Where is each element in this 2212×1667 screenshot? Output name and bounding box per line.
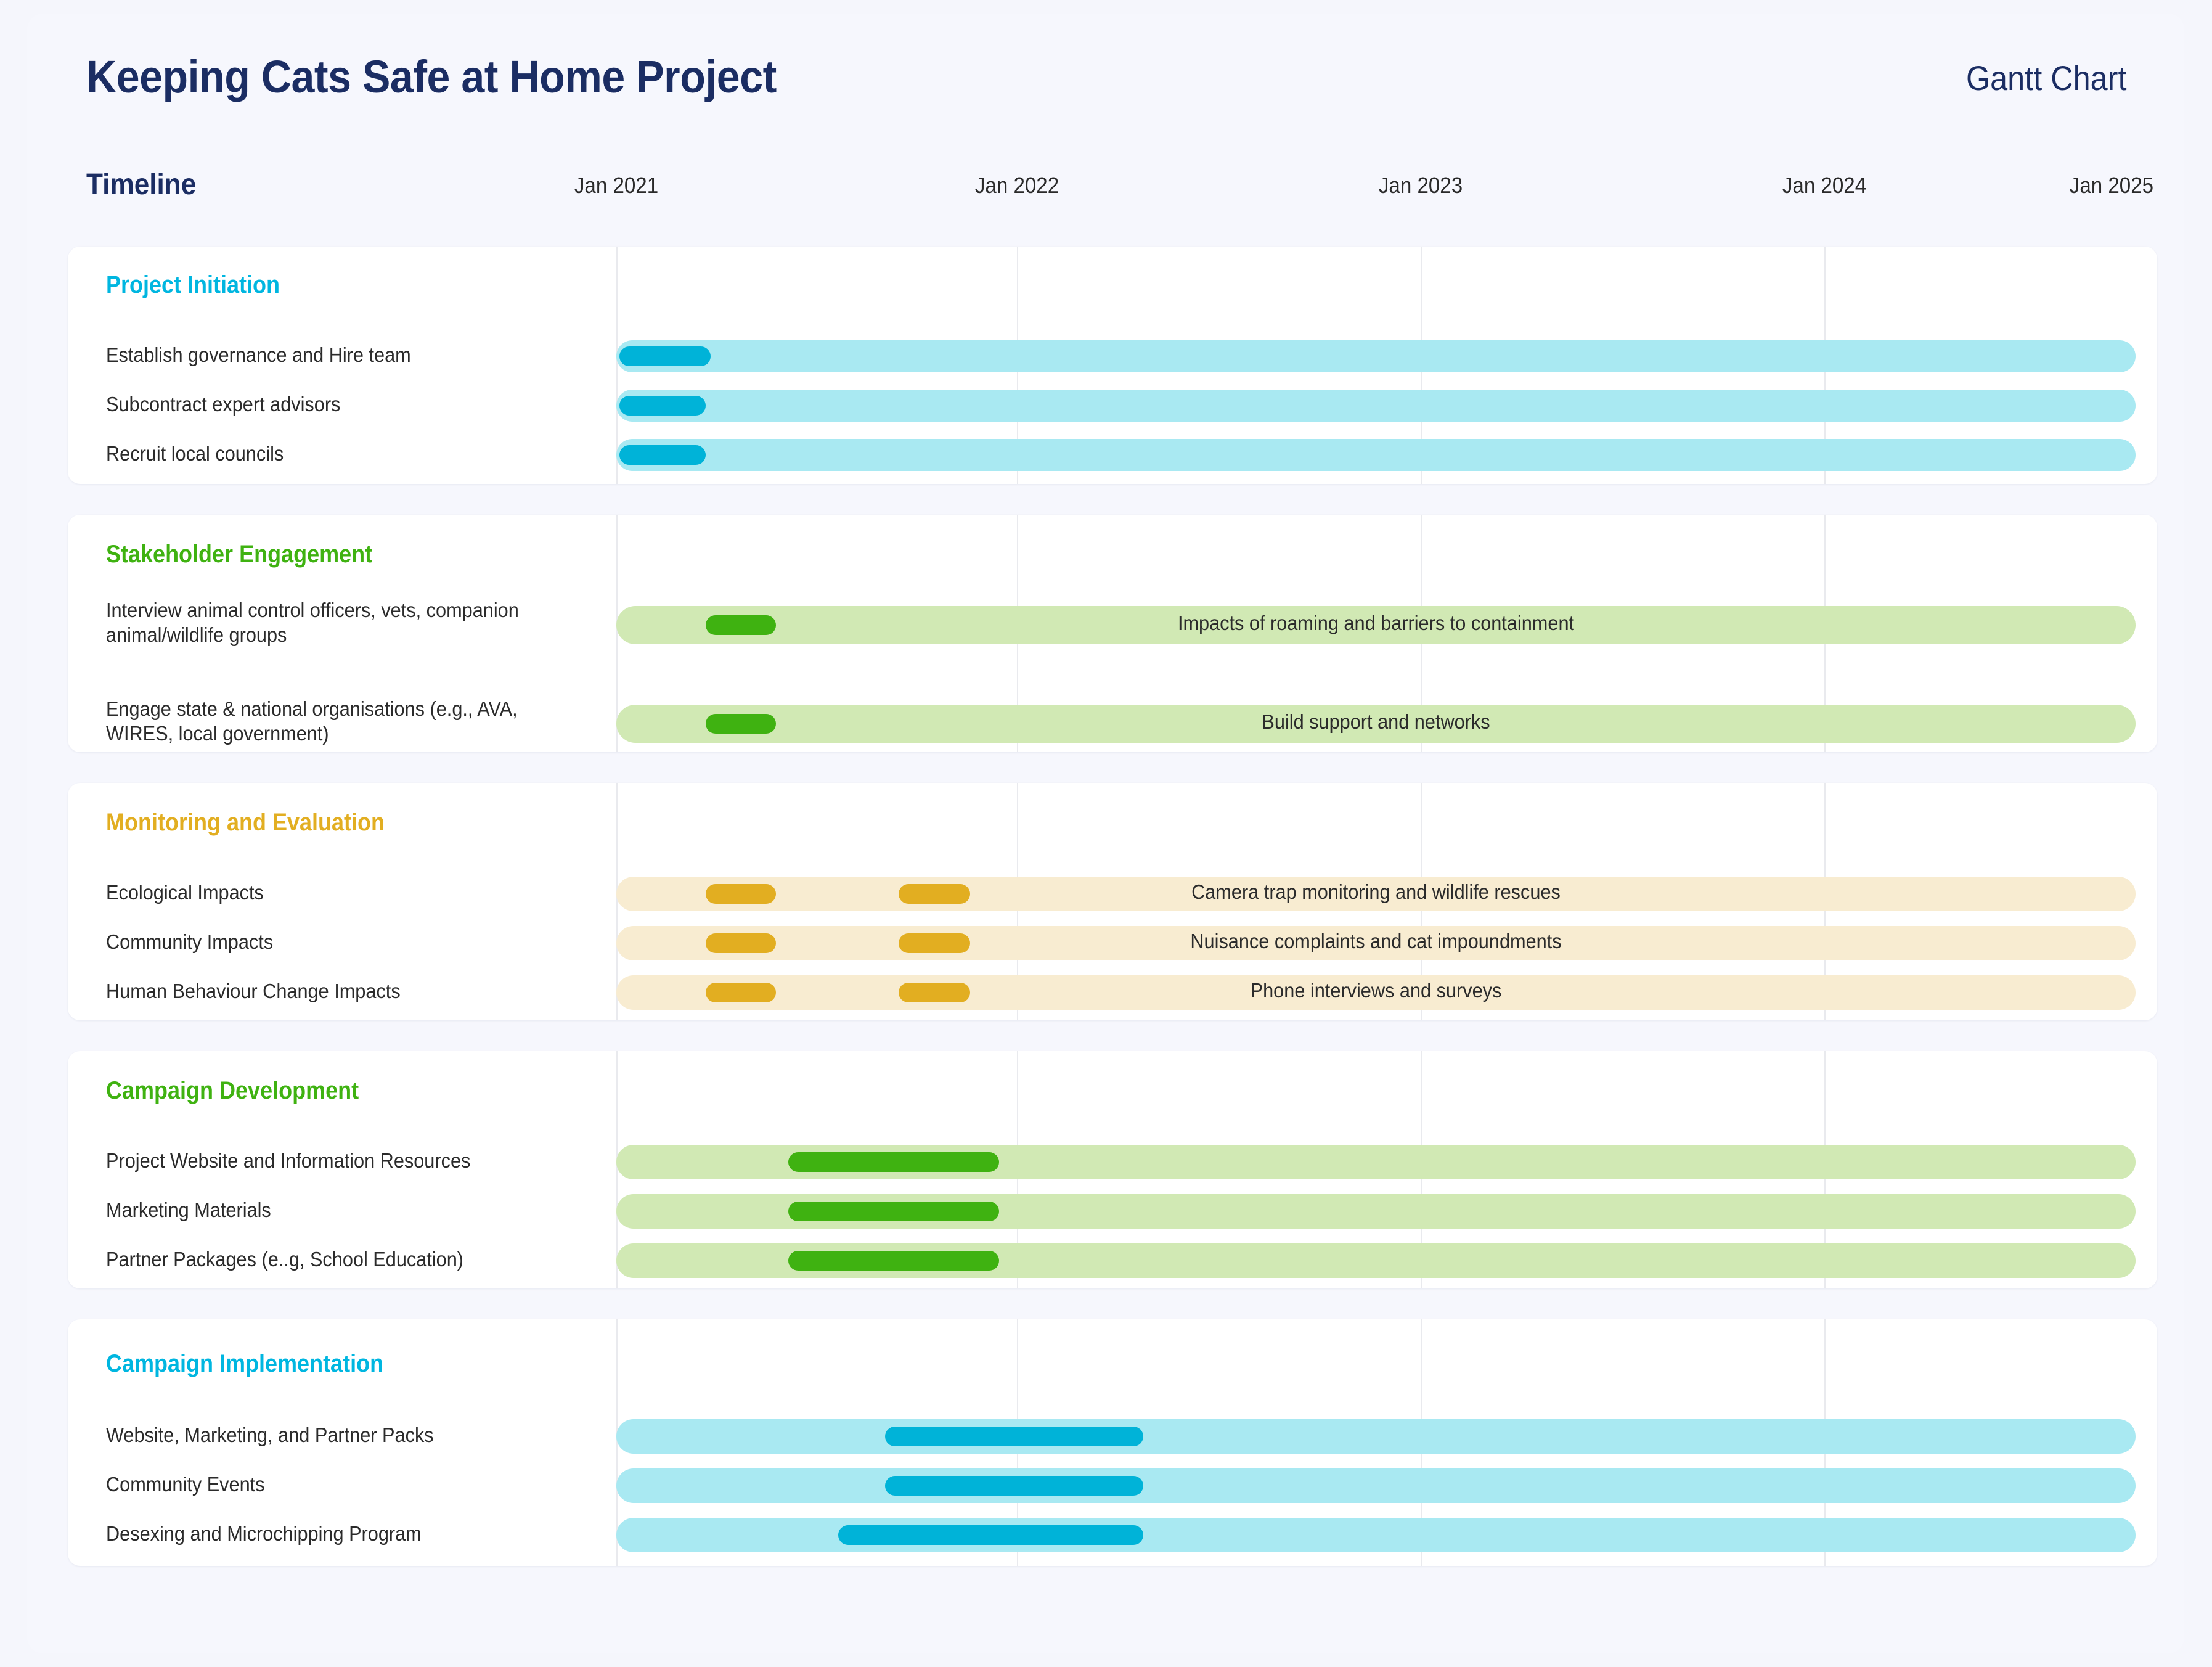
task-label: Desexing and Microchipping Program xyxy=(106,1522,565,1546)
task-bar-annotation: Phone interviews and surveys xyxy=(669,979,2082,1002)
task-label: Subcontract expert advisors xyxy=(106,392,565,417)
task-bar-annotation: Impacts of roaming and barriers to conta… xyxy=(669,612,2082,635)
gantt-section: Project InitiationEstablish governance a… xyxy=(68,247,2157,484)
page-title: Keeping Cats Safe at Home Project xyxy=(86,51,777,103)
timeline-tick: Jan 2022 xyxy=(975,173,1059,199)
task-bar[interactable] xyxy=(788,1202,1000,1221)
task-label: Human Behaviour Change Impacts xyxy=(106,979,565,1004)
gantt-section: Monitoring and EvaluationEcological Impa… xyxy=(68,783,2157,1020)
gantt-section: Campaign ImplementationWebsite, Marketin… xyxy=(68,1319,2157,1566)
timeline-tick: Jan 2021 xyxy=(574,173,658,199)
timeline-tick: Jan 2025 xyxy=(2070,173,2153,199)
task-label: Community Impacts xyxy=(106,930,565,954)
section-title: Stakeholder Engagement xyxy=(106,541,372,568)
task-bar[interactable] xyxy=(788,1152,1000,1172)
task-bar[interactable] xyxy=(885,1476,1143,1496)
task-label: Community Events xyxy=(106,1472,565,1497)
task-track[interactable] xyxy=(616,340,2136,372)
task-bar[interactable] xyxy=(619,445,706,465)
task-track[interactable] xyxy=(616,439,2136,471)
timeline-tick: Jan 2023 xyxy=(1379,173,1463,199)
task-bar-annotation: Camera trap monitoring and wildlife resc… xyxy=(669,880,2082,904)
task-bar[interactable] xyxy=(619,346,711,366)
task-bar[interactable] xyxy=(788,1251,1000,1271)
section-title: Project Initiation xyxy=(106,271,280,299)
gantt-section: Campaign DevelopmentProject Website and … xyxy=(68,1051,2157,1288)
task-label: Website, Marketing, and Partner Packs xyxy=(106,1423,565,1448)
task-bar-annotation: Nuisance complaints and cat impoundments xyxy=(669,930,2082,953)
task-label: Engage state & national organisations (e… xyxy=(106,697,565,747)
task-bar[interactable] xyxy=(619,396,706,416)
task-track[interactable] xyxy=(616,1468,2136,1503)
task-bar-annotation: Build support and networks xyxy=(669,710,2082,734)
gantt-chart-page: Keeping Cats Safe at Home Project Gantt … xyxy=(0,0,2212,1667)
gantt-section: Stakeholder EngagementInterview animal c… xyxy=(68,515,2157,752)
task-label: Recruit local councils xyxy=(106,441,565,466)
task-bar[interactable] xyxy=(885,1427,1143,1446)
task-track[interactable] xyxy=(616,390,2136,422)
section-title: Campaign Development xyxy=(106,1077,359,1105)
task-track[interactable] xyxy=(616,1419,2136,1454)
timeline-axis: Timeline Jan 2021Jan 2022Jan 2023Jan 202… xyxy=(55,166,2163,216)
timeline-tick: Jan 2024 xyxy=(1782,173,1866,199)
task-label: Partner Packages (e..g, School Education… xyxy=(106,1247,565,1272)
page-header: Keeping Cats Safe at Home Project Gantt … xyxy=(55,51,2126,118)
task-label: Interview animal control officers, vets,… xyxy=(106,598,565,648)
task-label: Marketing Materials xyxy=(106,1198,565,1223)
task-label: Project Website and Information Resource… xyxy=(106,1149,565,1173)
timeline-label: Timeline xyxy=(86,168,196,202)
task-bar[interactable] xyxy=(838,1525,1143,1545)
section-title: Campaign Implementation xyxy=(106,1350,383,1378)
task-label: Establish governance and Hire team xyxy=(106,343,565,367)
section-title: Monitoring and Evaluation xyxy=(106,809,385,837)
chart-type-label: Gantt Chart xyxy=(1965,58,2126,98)
task-label: Ecological Impacts xyxy=(106,880,565,905)
